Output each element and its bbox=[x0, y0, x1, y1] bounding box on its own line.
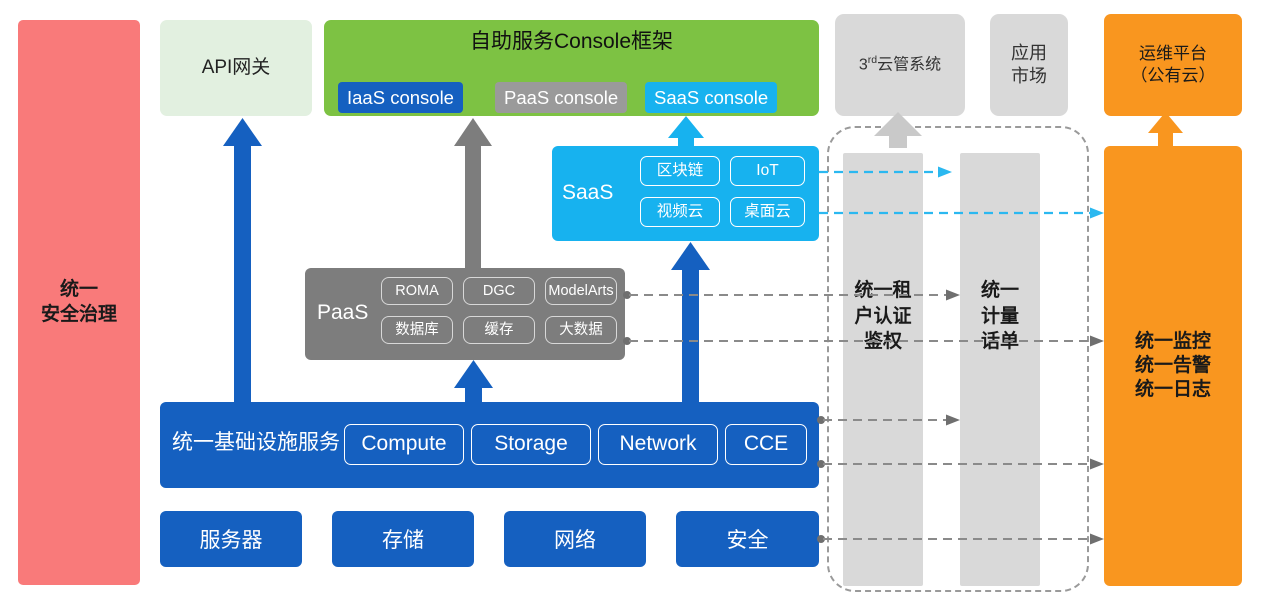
resource-box-security[interactable]: 安全 bbox=[676, 511, 819, 567]
tenant-auth-line-2: 户认证 bbox=[827, 304, 939, 330]
paas-console-chip[interactable]: PaaS console bbox=[495, 82, 627, 113]
ops-bar-line-2: 统一告警 bbox=[1135, 354, 1211, 378]
paas-service-roma[interactable]: ROMA bbox=[381, 277, 453, 305]
infra-service-storage[interactable]: Storage bbox=[471, 424, 591, 465]
app-market-line-2: 市场 bbox=[1011, 65, 1047, 88]
paas-block-label: PaaS bbox=[317, 300, 368, 327]
unified-infrastructure-bar: 统一基础设施服务 Compute Storage Network CCE bbox=[160, 402, 819, 488]
metering-billing-label: 统一 计量 话单 bbox=[944, 278, 1056, 355]
paas-service-database[interactable]: 数据库 bbox=[381, 316, 453, 344]
paas-service-modelarts[interactable]: ModelArts bbox=[545, 277, 617, 305]
saas-service-video-cloud[interactable]: 视频云 bbox=[640, 197, 720, 227]
saas-block-label: SaaS bbox=[562, 180, 613, 207]
paas-service-bigdata[interactable]: 大数据 bbox=[545, 316, 617, 344]
console-framework-title: 自助服务Console框架 bbox=[324, 29, 819, 56]
saas-console-chip[interactable]: SaaS console bbox=[645, 82, 777, 113]
arrow-infra-to-paas bbox=[454, 360, 493, 402]
security-line-1: 统一 bbox=[41, 278, 117, 302]
tenant-auth-label: 统一租 户认证 鉴权 bbox=[827, 278, 939, 355]
ops-monitoring-bar: 统一监控 统一告警 统一日志 bbox=[1104, 146, 1242, 586]
tenant-auth-line-3: 鉴权 bbox=[827, 329, 939, 355]
metering-billing-column: 统一 计量 话单 bbox=[960, 153, 1040, 586]
metering-line-2: 计量 bbox=[944, 304, 1056, 330]
security-line-2: 安全治理 bbox=[41, 303, 117, 327]
architecture-diagram: 统一 安全治理 API网关 自助服务Console框架 IaaS console… bbox=[0, 0, 1265, 605]
app-market-label: 应用 市场 bbox=[1011, 42, 1047, 88]
ops-bar-label: 统一监控 统一告警 统一日志 bbox=[1135, 330, 1211, 403]
arrow-infra-to-saas bbox=[671, 242, 710, 402]
ops-platform-line-1: 运维平台 bbox=[1131, 43, 1216, 65]
third-party-suffix: 云管系统 bbox=[877, 56, 941, 73]
ops-platform-label: 运维平台 （公有云） bbox=[1131, 43, 1216, 87]
app-market-box: 应用 市场 bbox=[990, 14, 1068, 116]
tenant-auth-line-1: 统一租 bbox=[827, 278, 939, 304]
resource-box-storage[interactable]: 存储 bbox=[332, 511, 474, 567]
arrow-ops-bar-to-ops-platform bbox=[1148, 112, 1183, 146]
security-governance-panel: 统一 安全治理 bbox=[18, 20, 140, 585]
third-party-prefix: 3 bbox=[859, 56, 868, 73]
api-gateway-label: API网关 bbox=[202, 56, 271, 80]
paas-service-cache[interactable]: 缓存 bbox=[463, 316, 535, 344]
third-party-superscript: rd bbox=[868, 54, 877, 66]
infra-service-compute[interactable]: Compute bbox=[344, 424, 464, 465]
third-party-cloud-label: 3rd云管系统 bbox=[859, 54, 941, 76]
paas-service-dgc[interactable]: DGC bbox=[463, 277, 535, 305]
arrow-paas-to-console bbox=[454, 118, 492, 268]
console-framework-box: 自助服务Console框架 IaaS console PaaS console … bbox=[324, 20, 819, 116]
infra-service-network[interactable]: Network bbox=[598, 424, 718, 465]
metering-line-3: 话单 bbox=[944, 329, 1056, 355]
iaas-console-chip[interactable]: IaaS console bbox=[338, 82, 463, 113]
tenant-auth-column: 统一租 户认证 鉴权 bbox=[843, 153, 923, 586]
resource-box-network[interactable]: 网络 bbox=[504, 511, 646, 567]
saas-block: SaaS 区块链 IoT 视频云 桌面云 bbox=[552, 146, 819, 241]
resource-box-server[interactable]: 服务器 bbox=[160, 511, 302, 567]
infra-service-cce[interactable]: CCE bbox=[725, 424, 807, 465]
arrow-infra-to-api-gateway bbox=[223, 118, 262, 402]
ops-platform-line-2: （公有云） bbox=[1131, 65, 1216, 87]
arrow-saas-to-saas-console bbox=[668, 116, 704, 148]
api-gateway-box: API网关 bbox=[160, 20, 312, 116]
app-market-line-1: 应用 bbox=[1011, 42, 1047, 65]
saas-service-desktop-cloud[interactable]: 桌面云 bbox=[730, 197, 805, 227]
ops-platform-box: 运维平台 （公有云） bbox=[1104, 14, 1242, 116]
paas-block: PaaS ROMA DGC ModelArts 数据库 缓存 大数据 bbox=[305, 268, 625, 360]
ops-bar-line-1: 统一监控 bbox=[1135, 330, 1211, 354]
third-party-cloud-box: 3rd云管系统 bbox=[835, 14, 965, 116]
ops-bar-line-3: 统一日志 bbox=[1135, 378, 1211, 402]
metering-line-1: 统一 bbox=[944, 278, 1056, 304]
infrastructure-label: 统一基础设施服务 bbox=[172, 430, 340, 457]
security-governance-label: 统一 安全治理 bbox=[41, 278, 117, 327]
saas-service-blockchain[interactable]: 区块链 bbox=[640, 156, 720, 186]
saas-service-iot[interactable]: IoT bbox=[730, 156, 805, 186]
